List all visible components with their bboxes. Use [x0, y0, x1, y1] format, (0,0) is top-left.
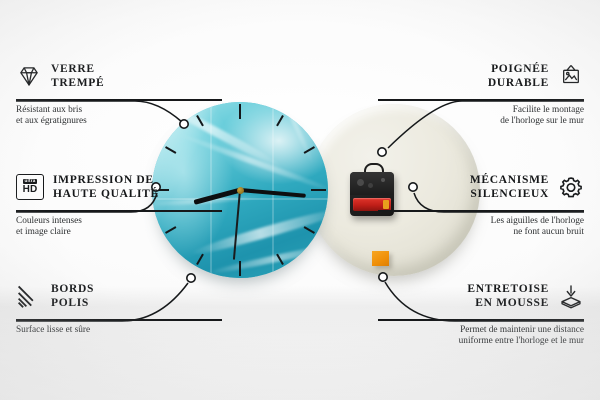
callout-title: ENTRETOISE EN MOUSSE [467, 282, 549, 310]
callout-desc-line2: et image claire [16, 227, 222, 239]
callout-desc-line1: Surface lisse et sûre [16, 325, 222, 337]
callout-header: VERRE TREMPÉ [16, 56, 222, 96]
callout-title-line2: EN MOUSSE [467, 296, 549, 310]
callout-title-line2: DURABLE [488, 76, 549, 90]
hour-marker [239, 104, 241, 119]
callout-header: POIGNÉE DURABLE [378, 56, 584, 96]
callout-header: BORDS POLIS [16, 276, 222, 316]
callout-desc-line1: Résistant aux bris [16, 105, 222, 117]
gear-icon [558, 174, 584, 200]
diamond-icon [16, 63, 42, 89]
callout-desc-line1: Facilite le montage [378, 105, 584, 117]
callout-header: ultra HD IMPRESSION DE HAUTE QUALITÉ [16, 167, 222, 207]
callout-divider [16, 210, 222, 212]
callout-title: POIGNÉE DURABLE [488, 62, 549, 90]
callout-verre-trempe: VERRE TREMPÉ Résistant aux bris et aux é… [16, 56, 222, 128]
callout-title: MÉCANISME SILENCIEUX [470, 173, 549, 201]
foam-spacer [372, 251, 389, 266]
callout-bords-polis: BORDS POLIS Surface lisse et sûre [16, 276, 222, 336]
callout-poignee-durable: POIGNÉE DURABLE Facilite le montage de l… [378, 56, 584, 128]
callout-title-line1: MÉCANISME [470, 173, 549, 187]
callout-title-line1: VERRE [51, 62, 104, 76]
callout-desc-line2: ne font aucun bruit [378, 227, 584, 239]
callout-title-line1: IMPRESSION DE [53, 173, 159, 187]
callout-mecanisme-silencieux: MÉCANISME SILENCIEUX Les aiguilles de l'… [378, 167, 584, 239]
callout-title: IMPRESSION DE HAUTE QUALITÉ [53, 173, 159, 201]
mechanism-dial [357, 179, 364, 186]
callout-header: MÉCANISME SILENCIEUX [378, 167, 584, 207]
callout-title-line1: POIGNÉE [488, 62, 549, 76]
callout-divider [378, 319, 584, 321]
callout-divider [378, 210, 584, 212]
hour-marker [311, 189, 326, 191]
ultra-hd-icon-large-label: HD [23, 185, 38, 195]
callout-desc-line1: Permet de maintenir une distance [378, 325, 584, 337]
callout-desc-line2: et aux égratignures [16, 116, 222, 128]
callout-title-line2: TREMPÉ [51, 76, 104, 90]
callout-impression-haute-qualite: ultra HD IMPRESSION DE HAUTE QUALITÉ Cou… [16, 167, 222, 239]
callout-desc-line2: uniforme entre l'horloge et le mur [378, 336, 584, 348]
hanging-frame-icon [558, 63, 584, 89]
callout-divider [16, 319, 222, 321]
callout-title: VERRE TREMPÉ [51, 62, 104, 90]
hands-center-cap [237, 187, 244, 194]
product-feature-scene: VERRE TREMPÉ Résistant aux bris et aux é… [0, 0, 600, 400]
callout-desc-line1: Couleurs intenses [16, 216, 222, 228]
callout-header: ENTRETOISE EN MOUSSE [378, 276, 584, 316]
foam-spacer-icon [558, 283, 584, 309]
callout-divider [378, 99, 584, 101]
callout-desc-line1: Les aiguilles de l'horloge [378, 216, 584, 228]
callout-title-line2: SILENCIEUX [470, 187, 549, 201]
mechanism-screw [368, 183, 373, 188]
hour-marker [239, 261, 241, 276]
polished-edges-icon [16, 283, 42, 309]
callout-divider [16, 99, 222, 101]
callout-title-line2: HAUTE QUALITÉ [53, 187, 159, 201]
callout-title-line2: POLIS [51, 296, 94, 310]
callout-desc-line2: de l'horloge sur le mur [378, 116, 584, 128]
callout-title-line1: BORDS [51, 282, 94, 296]
callout-title-line1: ENTRETOISE [467, 282, 549, 296]
ultra-hd-icon: ultra HD [16, 174, 44, 200]
callout-entretoise-en-mousse: ENTRETOISE EN MOUSSE Permet de maintenir… [378, 276, 584, 348]
callout-title: BORDS POLIS [51, 282, 94, 310]
